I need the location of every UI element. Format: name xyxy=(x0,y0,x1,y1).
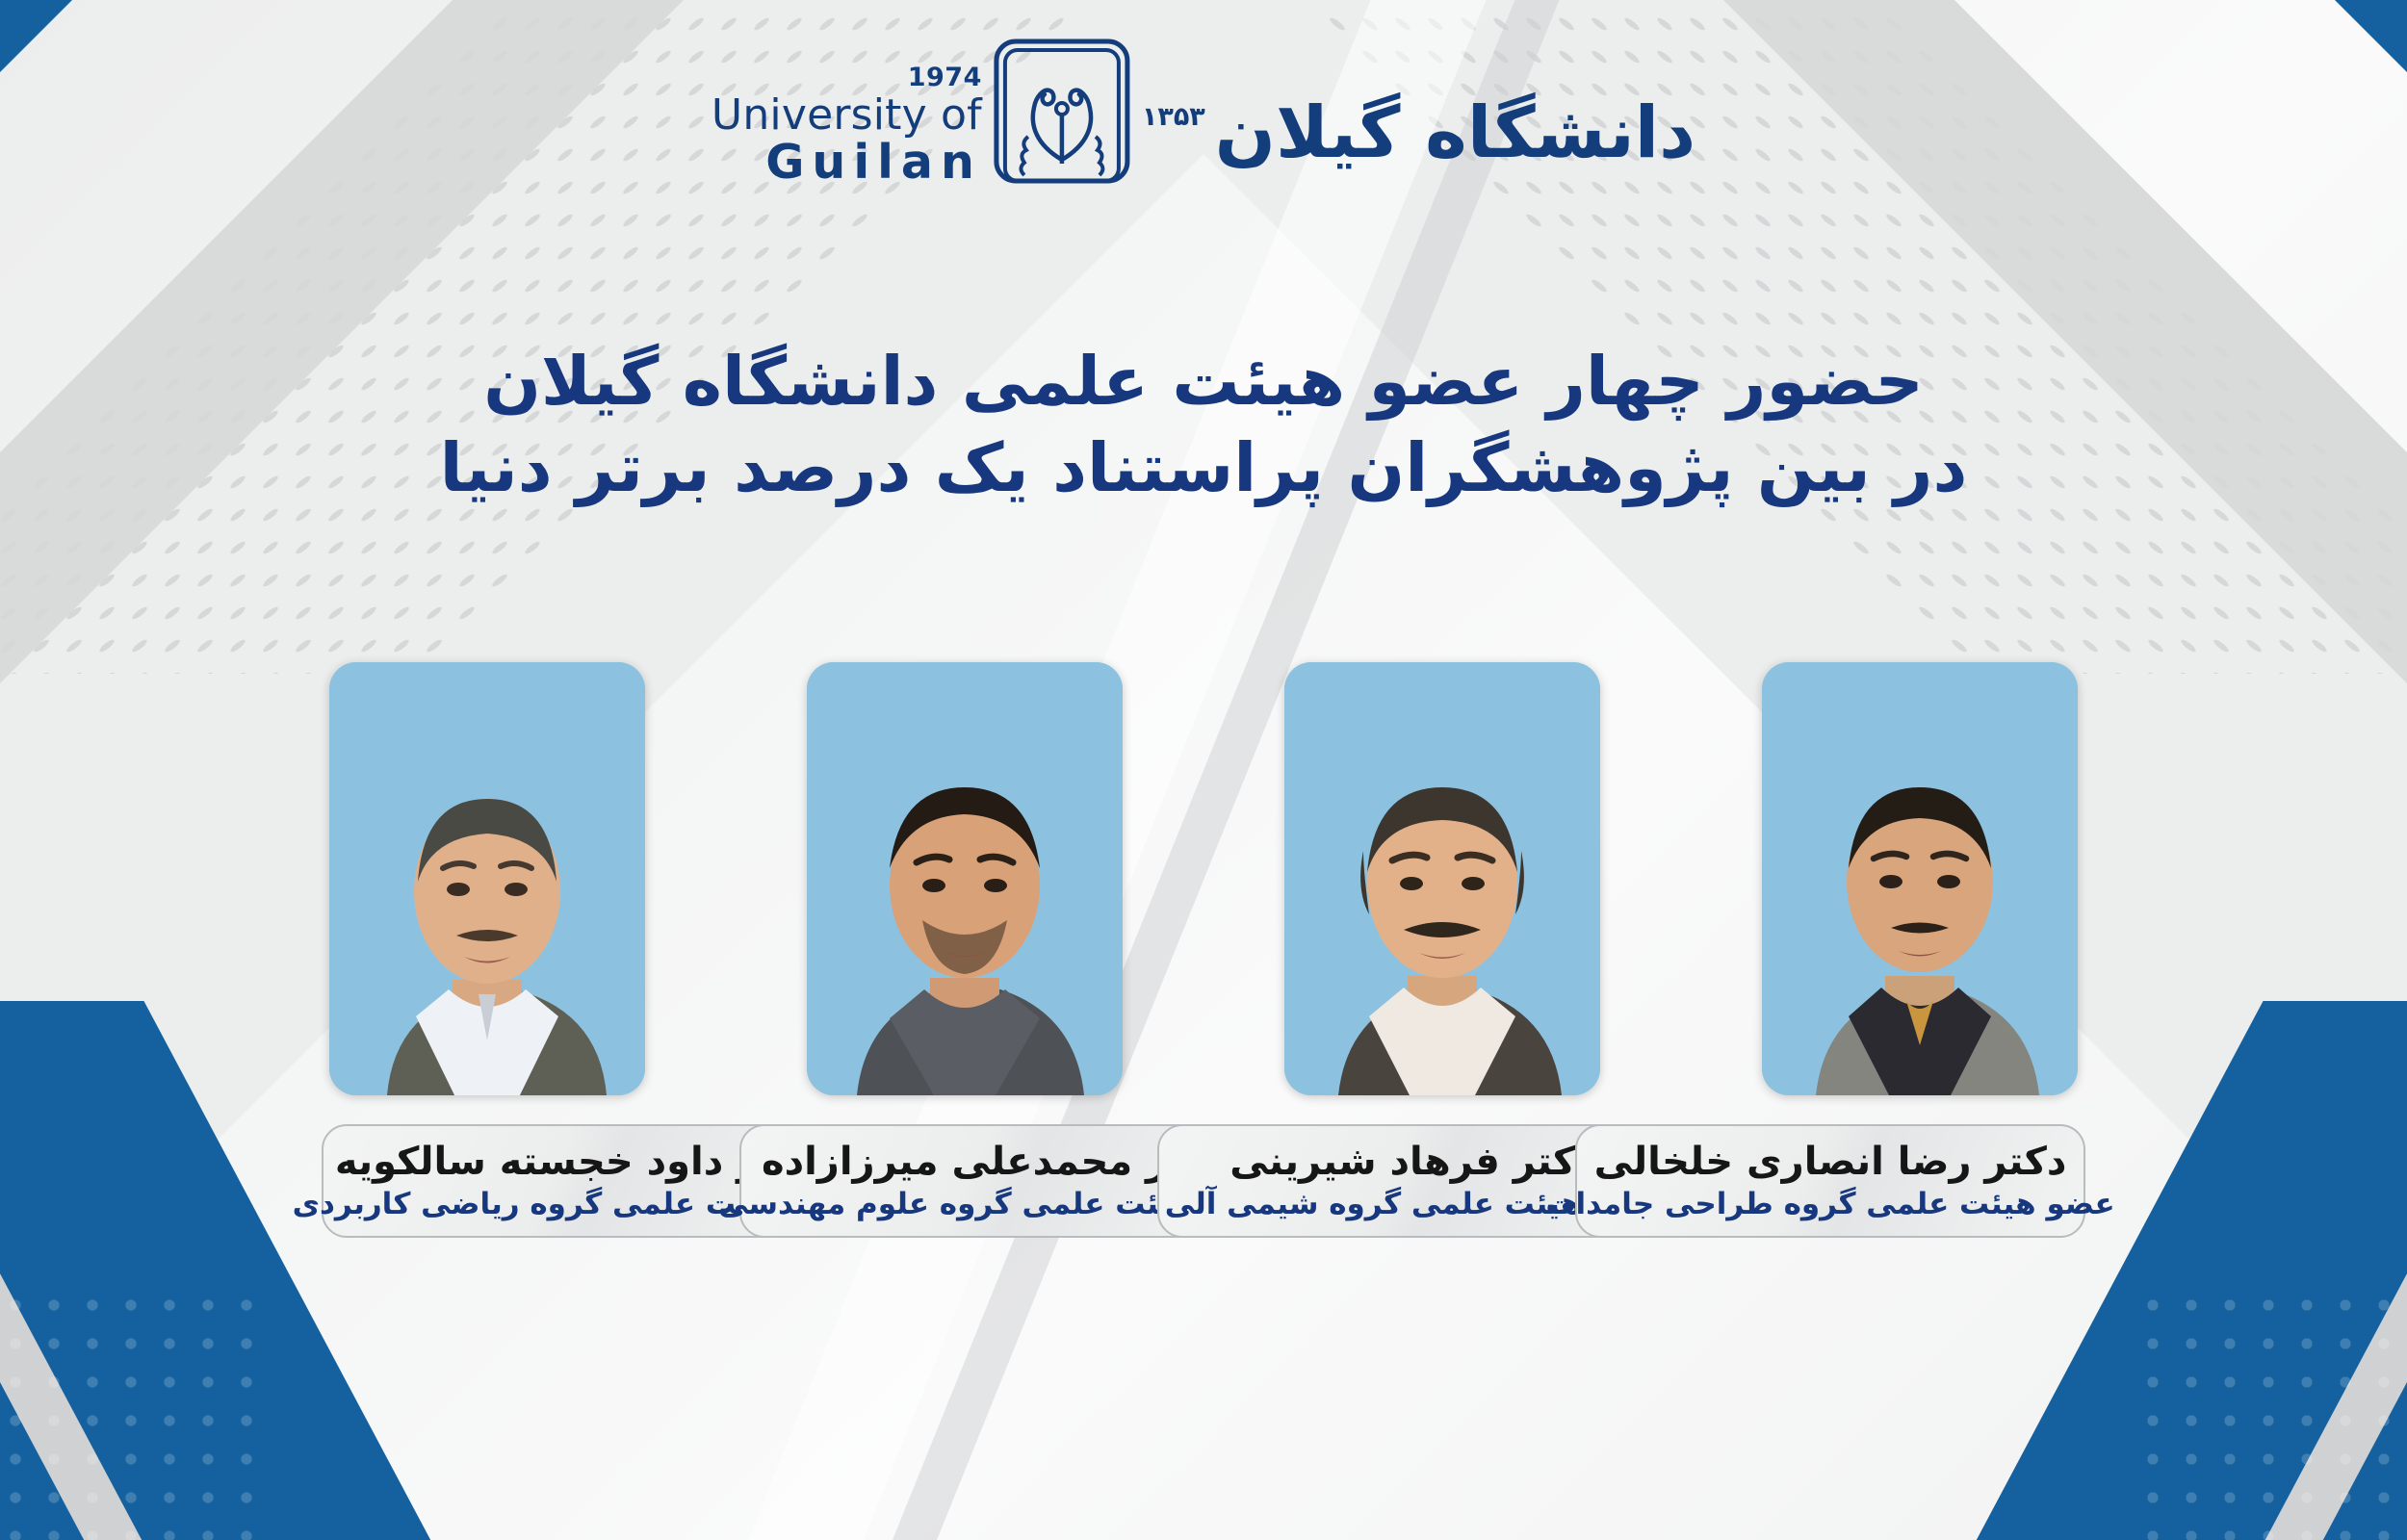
logo-english-lockup: 1974 University of Guilan xyxy=(712,64,982,186)
headline-line-1: حضور چهار عضو هیئت علمی دانشگاه گیلان xyxy=(483,342,1924,421)
page-title: حضور چهار عضو هیئت علمی دانشگاه گیلان در… xyxy=(0,339,2407,511)
headline-line-2: در بین پژوهشگران پراستناد یک درصد برتر د… xyxy=(0,425,2407,512)
person-card xyxy=(1762,662,2078,1095)
person-name: دکتر فرهاد شیرینی xyxy=(1229,1142,1595,1182)
logo-founding-year-en: 1974 xyxy=(908,64,982,90)
portrait-illustration xyxy=(807,662,1123,1095)
person-name: دکتر رضا انصاری خلخالی xyxy=(1594,1142,2067,1182)
portrait-illustration xyxy=(329,662,645,1095)
halftone-dots-bottom-right xyxy=(2137,1290,2407,1540)
person-card xyxy=(1284,662,1600,1095)
portrait-photo-2 xyxy=(807,662,1123,1095)
person-card xyxy=(329,662,645,1095)
poster-canvas: 1974 University of Guilan ۱۳۵۳ دانشگاه گ… xyxy=(0,0,2407,1540)
person-card xyxy=(807,662,1123,1095)
logo-founding-year-fa: ۱۳۵۳ xyxy=(1142,102,1205,132)
portrait-photo-4 xyxy=(1762,662,2078,1095)
logo-guilan-word: Guilan xyxy=(765,139,982,186)
caption-row: دکتر داود خجسته سالکویه عضو هیئت علمی گر… xyxy=(0,1124,2407,1238)
guilan-emblem-icon xyxy=(990,37,1134,186)
person-role: عضو هیئت علمی گروه طراحی جامدات xyxy=(1545,1188,2114,1220)
person-caption-4: دکتر رضا انصاری خلخالی عضو هیئت علمی گرو… xyxy=(1575,1124,2085,1238)
halftone-dots-bottom-left xyxy=(0,1290,270,1540)
logo-university-word: University of xyxy=(712,94,982,137)
logo-persian-lockup: ۱۳۵۳ دانشگاه گیلان xyxy=(1142,97,1695,186)
portrait-illustration xyxy=(1762,662,2078,1095)
portrait-row xyxy=(0,662,2407,1095)
logo-university-name-fa: دانشگاه گیلان xyxy=(1215,97,1695,168)
portrait-illustration xyxy=(1284,662,1600,1095)
portrait-photo-3 xyxy=(1284,662,1600,1095)
university-logo: 1974 University of Guilan ۱۳۵۳ دانشگاه گ… xyxy=(712,37,1695,186)
portrait-photo-1 xyxy=(329,662,645,1095)
